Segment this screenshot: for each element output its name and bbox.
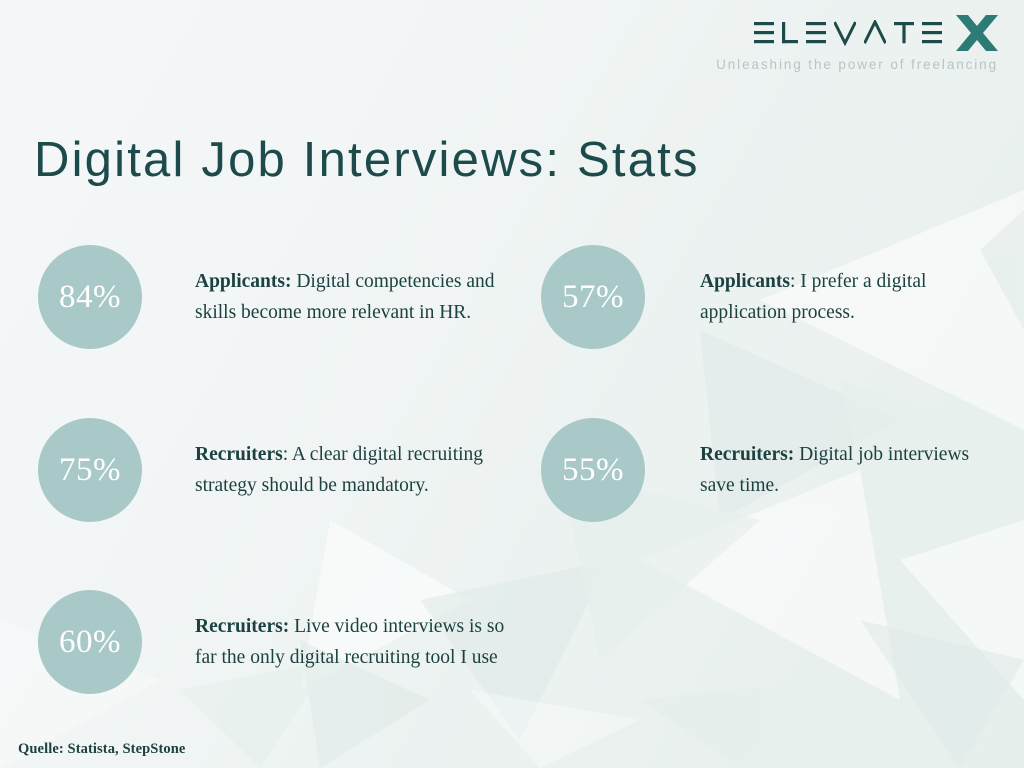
stat-percent-badge: 84%	[38, 245, 142, 349]
stat-percent-badge: 57%	[541, 245, 645, 349]
source-citation: Quelle: Statista, StepStone	[18, 741, 185, 758]
logo-row	[716, 16, 998, 50]
x-mark-icon	[956, 15, 998, 51]
stat-item: 60% Recruiters: Live video interviews is…	[38, 590, 520, 694]
stat-audience-label: Recruiters:	[195, 616, 289, 637]
stat-description: Applicants: I prefer a digital applicati…	[700, 266, 990, 328]
wordmark-letter-e-icon	[754, 20, 774, 46]
stat-percent-badge: 60%	[38, 590, 142, 694]
stat-item: 75% Recruiters: A clear digital recruiti…	[38, 418, 505, 522]
slide-canvas: Unleashing the power of freelancing Digi…	[0, 0, 1024, 768]
stat-description: Recruiters: A clear digital recruiting s…	[195, 439, 505, 501]
stat-percent-badge: 75%	[38, 418, 142, 522]
elevate-wordmark	[754, 20, 942, 46]
stat-item: 55% Recruiters: Digital job interviews s…	[541, 418, 990, 522]
stat-item: 57% Applicants: I prefer a digital appli…	[541, 245, 990, 349]
wordmark-letter-t-icon	[894, 20, 914, 46]
wordmark-letter-v-icon	[834, 20, 856, 46]
stat-percent-badge: 55%	[541, 418, 645, 522]
page-title: Digital Job Interviews: Stats	[34, 132, 700, 188]
wordmark-letter-l-icon	[782, 20, 798, 46]
stat-description: Applicants: Digital competencies and ski…	[195, 266, 505, 328]
stat-description: Recruiters: Digital job interviews save …	[700, 439, 990, 501]
wordmark-letter-a-icon	[864, 20, 886, 46]
stat-description: Recruiters: Live video interviews is so …	[195, 611, 520, 673]
brand-logo: Unleashing the power of freelancing	[716, 16, 998, 72]
stat-item: 84% Applicants: Digital competencies and…	[38, 245, 505, 349]
stat-audience-label: Applicants	[700, 271, 790, 292]
wordmark-letter-e3-icon	[922, 20, 942, 46]
brand-tagline: Unleashing the power of freelancing	[716, 57, 998, 72]
wordmark-letter-e2-icon	[806, 20, 826, 46]
stat-audience-label: Recruiters:	[700, 444, 794, 465]
stat-audience-label: Applicants:	[195, 271, 291, 292]
stat-audience-label: Recruiters	[195, 444, 283, 465]
